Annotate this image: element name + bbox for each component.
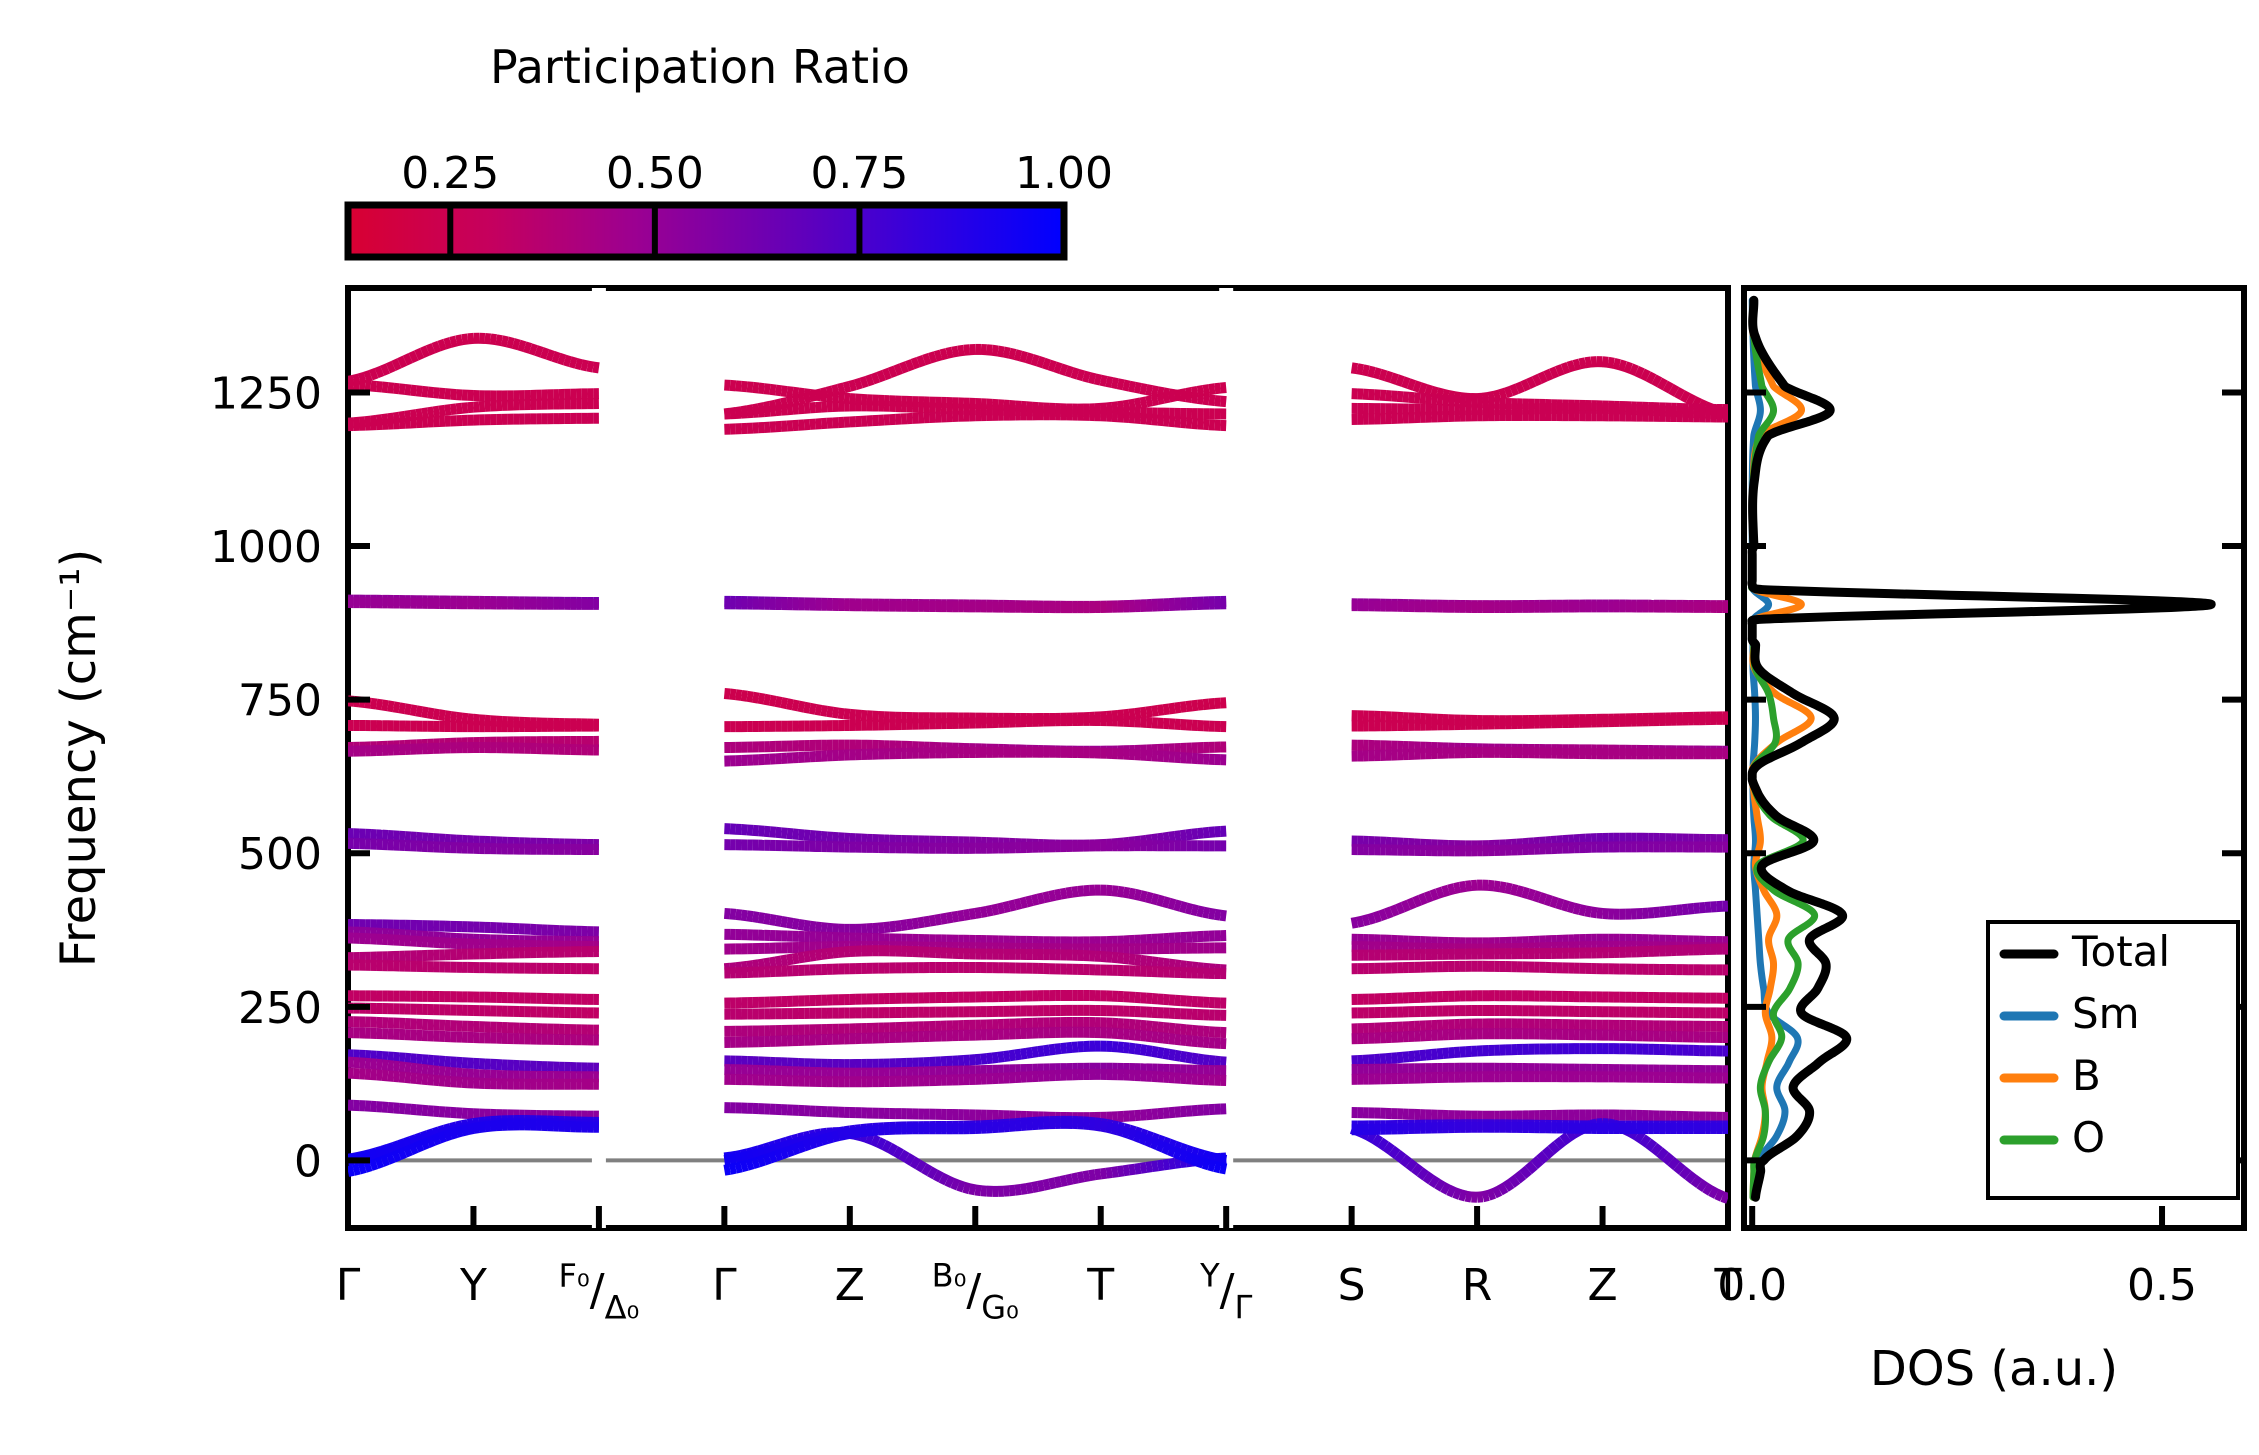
band-line — [348, 748, 599, 752]
legend-label-total: Total — [2071, 927, 2170, 976]
band-line — [1352, 719, 1728, 726]
band-y-tick-label: 1000 — [210, 522, 322, 573]
band-line — [724, 845, 1226, 849]
band-line — [724, 1010, 1226, 1015]
band-line — [348, 725, 599, 726]
band-line — [724, 604, 1226, 608]
frequency-axis-title: Frequency (cm⁻¹) — [51, 549, 107, 967]
band-line — [1352, 949, 1728, 955]
colorbar-tick-label: 0.75 — [810, 148, 908, 199]
colorbar-tick-label: 0.50 — [606, 148, 704, 199]
band-line — [724, 967, 1226, 973]
band-line — [1352, 996, 1728, 1000]
band-line — [1352, 415, 1728, 419]
colorbar-tick-label: 0.25 — [401, 148, 499, 199]
band-line — [1352, 1113, 1728, 1118]
colorbar-title: Participation Ratio — [490, 40, 910, 94]
band-x-tick-label: S — [1338, 1260, 1366, 1311]
band-line — [348, 952, 599, 958]
band-line — [724, 720, 1226, 726]
band-y-tick-label: 0 — [294, 1136, 322, 1187]
colorbar-tick-label: 1.00 — [1015, 148, 1113, 199]
figure-root: Participation Ratio 0.250.500.751.00 025… — [0, 0, 2259, 1455]
band-line — [348, 1008, 599, 1013]
band-x-tick-label: T — [1086, 1260, 1114, 1311]
band-line — [1352, 752, 1728, 756]
band-y-tick-label: 500 — [238, 829, 322, 880]
band-x-tick-label: Γ — [336, 1260, 361, 1311]
band-x-tick-label: Γ — [712, 1260, 737, 1311]
dos-x-tick-label: 0.5 — [2127, 1260, 2197, 1311]
band-line — [1352, 1068, 1728, 1070]
band-line — [724, 995, 1226, 1003]
band-line — [1352, 847, 1728, 851]
band-y-tick-label: 1250 — [210, 368, 322, 419]
band-line — [1352, 1077, 1728, 1080]
band-x-tick-label: R — [1462, 1260, 1493, 1311]
dos-x-tick-label: 0.0 — [1717, 1260, 1787, 1311]
band-line — [348, 603, 599, 605]
band-line — [1352, 1010, 1728, 1012]
dos-panel: 0.00.5 DOS (a.u.) TotalSmBO — [1717, 288, 2244, 1397]
legend-label-sm: Sm — [2072, 989, 2140, 1038]
band-line — [1352, 1127, 1728, 1129]
band-line — [348, 996, 599, 1000]
band-y-tick-label: 750 — [238, 676, 322, 727]
band-x-tick-label: Z — [835, 1260, 865, 1311]
band-line — [724, 934, 1226, 942]
band-line — [1352, 1034, 1728, 1039]
band-line — [1352, 1024, 1728, 1029]
band-y-tick-label: 250 — [238, 983, 322, 1034]
phonon-figure: Participation Ratio 0.250.500.751.00 025… — [0, 0, 2259, 1455]
colorbar-gradient — [348, 205, 1064, 257]
band-line — [1352, 606, 1728, 608]
band-x-tick-label: Z — [1587, 1260, 1617, 1311]
band-x-tick-label: Y — [459, 1260, 487, 1311]
legend-label-o: O — [2072, 1113, 2105, 1162]
dos-axis-title: DOS (a.u.) — [1870, 1341, 2118, 1397]
dos-legend: TotalSmBO — [1988, 922, 2238, 1198]
band-line — [348, 965, 599, 969]
band-line — [1352, 966, 1728, 970]
band-line — [348, 843, 599, 849]
legend-label-b: B — [2072, 1051, 2101, 1100]
